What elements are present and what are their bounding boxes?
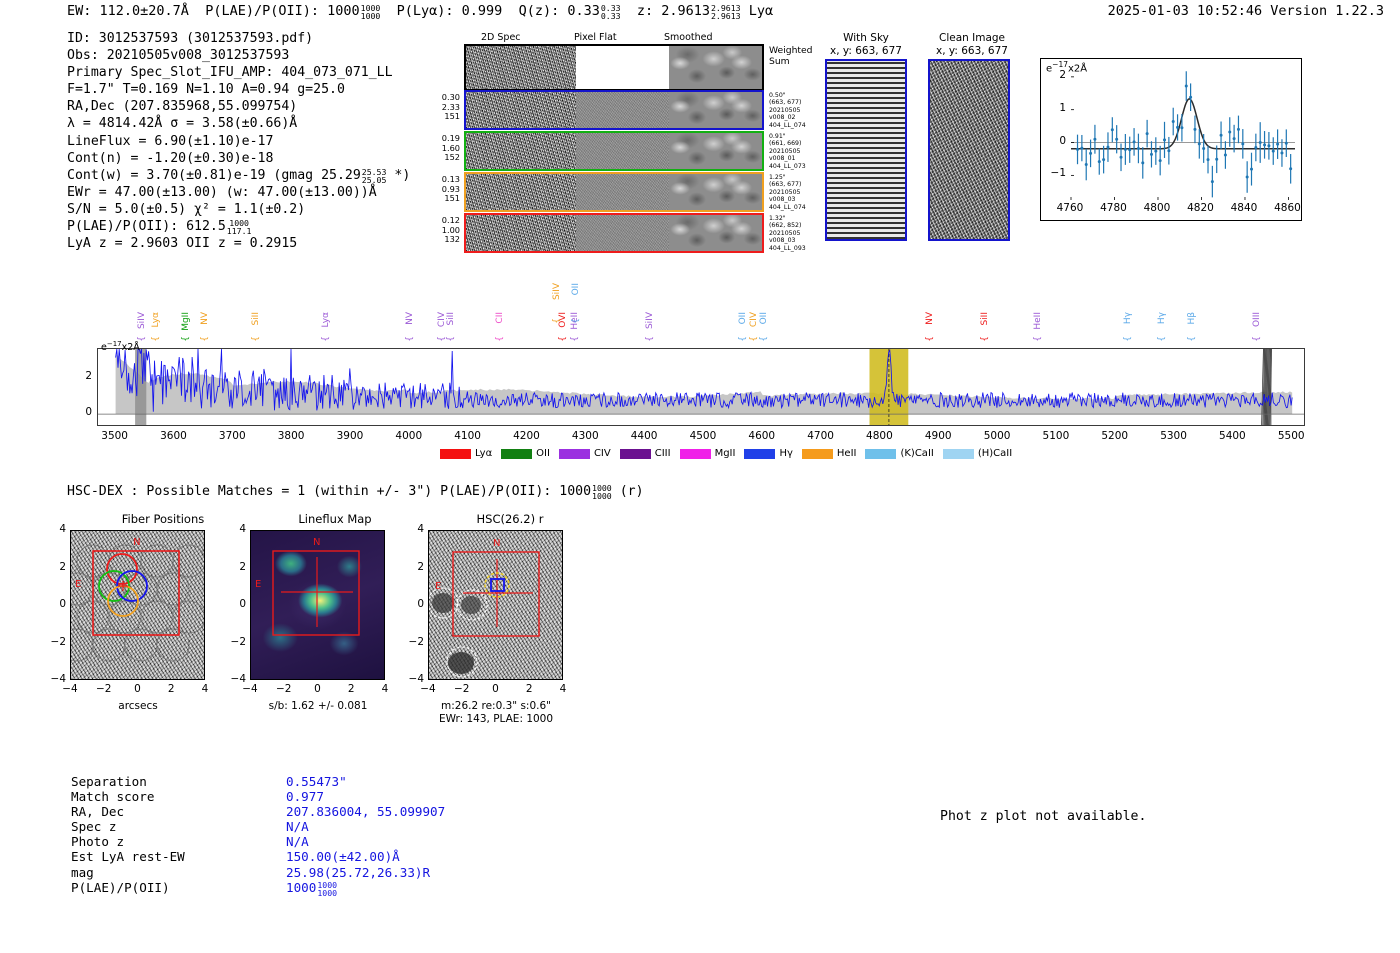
emission-line-label-H-22: Hγ: [1157, 312, 1167, 324]
emission-line-brace-18: {: [925, 336, 935, 342]
legend-item-CIV: CIV: [559, 448, 611, 459]
spectrum-xtick-4700: 4700: [799, 430, 843, 442]
spec2d-row-weighted-sum: [464, 44, 764, 91]
info-radec: RA,Dec (207.835968,55.099754): [67, 98, 410, 115]
emission-line-label-OII-17: OII: [759, 312, 769, 324]
hscr-xtick-3: 2: [514, 683, 544, 695]
legend-label-3: CIII: [655, 448, 671, 459]
legend-label-7: (K)CaII: [900, 448, 933, 459]
spectrum-xtick-4800: 4800: [857, 430, 901, 442]
cleanimage-cutout: [928, 59, 1010, 241]
spec2d-fiber-row-2: [464, 131, 764, 171]
emission-line-label-H-21: Hγ: [1123, 312, 1133, 324]
fiber-xtick-3: 2: [156, 683, 186, 695]
legend-swatch-8: [943, 449, 974, 459]
panel-title-hsc-r: HSC(26.2) r: [415, 512, 605, 526]
fiber-ytick-4: 4: [44, 523, 66, 535]
hscr-ytick-0: −4: [402, 673, 424, 685]
spectrum-units-annotation: e−17x2Å: [101, 340, 140, 353]
photoz-unavailable-message: Phot z plot not available.: [940, 809, 1146, 824]
legend-swatch-1: [501, 449, 532, 459]
legend-swatch-6: [802, 449, 833, 459]
emission-line-brace-23: {: [1187, 336, 1197, 342]
fiber-row-2-left-values: 0.191.60152: [424, 134, 460, 163]
fiber-compass-north: N: [133, 537, 140, 548]
hscr-xtick-1: −2: [447, 683, 477, 695]
legend-item-H: Hγ: [744, 448, 792, 459]
emission-line-label-NV-18: NV: [925, 312, 935, 325]
hscr-ytick-2: 0: [402, 598, 424, 610]
match-table-key-3: Spec z: [71, 819, 286, 834]
emission-line-label-OIII-24: OIII: [1252, 312, 1262, 327]
emission-line-label-CIV-16: CIV: [749, 312, 759, 327]
info-obs: Obs: 20210505v008_3012537593: [67, 47, 410, 64]
info-cont-n: Cont(n) = -1.20(±0.30)e-18: [67, 150, 410, 167]
legend-item-HCaII: (H)CaII: [943, 448, 1012, 459]
legend-swatch-2: [559, 449, 590, 459]
fiber-row-1-meta: 0.50"(663, 677)20210505v008_02404_LL_074: [769, 92, 815, 129]
spectrum-xtick-3800: 3800: [269, 430, 313, 442]
linefit-xtick-4780: 4780: [1098, 202, 1128, 214]
emission-line-label-Ly-1: Lyα: [151, 312, 161, 327]
spec2d-fiber-row-3: [464, 172, 764, 212]
header-z-frac: 2.96132.9613: [711, 4, 741, 20]
spectrum-xtick-5500: 5500: [1269, 430, 1313, 442]
emission-line-label-MgII-2: MgII: [181, 312, 191, 331]
info-cont-w: Cont(w) = 3.70(±0.81)e-19 (gmag 25.2925.…: [67, 167, 410, 184]
match-table-value-0: 0.55473": [286, 774, 347, 789]
emission-line-label-Ly-5: Lyα: [321, 312, 331, 327]
fiber-xtick-4: 4: [190, 683, 220, 695]
emission-line-label-HeII-20: HeII: [1033, 312, 1043, 330]
fiber-caption: arcsecs: [68, 700, 208, 712]
emission-line-brace-20: {: [1033, 336, 1043, 342]
spectrum-xtick-5300: 5300: [1152, 430, 1196, 442]
legend-label-2: CIV: [594, 448, 611, 459]
emission-line-label-H-23: Hβ: [1187, 312, 1197, 325]
withsky-title: With Sky: [820, 32, 912, 44]
hscr-ytick-3: 2: [402, 561, 424, 573]
hsc-r-image[interactable]: N E: [428, 530, 563, 680]
match-table-row: Est LyA rest-EW150.00(±42.00)Å: [71, 849, 445, 864]
hscr-ytick-1: −2: [402, 636, 424, 648]
match-table-value-1: 0.977: [286, 789, 324, 804]
lineflux-ytick-2: 0: [224, 598, 246, 610]
spectrum-xtick-4600: 4600: [740, 430, 784, 442]
info-seeing: F=1.7" T=0.169 N=1.10 A=0.94 g=25.0: [67, 81, 410, 98]
spec2d-fiber-row-4: [464, 213, 764, 253]
fiber-positions-image[interactable]: N E: [70, 530, 205, 680]
col-title-pixelflat: Pixel Flat: [574, 32, 617, 43]
match-table-key-4: Photo z: [71, 834, 286, 849]
emission-line-brace-2: {: [181, 336, 191, 342]
info-sn-chi2: S/N = 5.0(±0.5) χ² = 1.1(±0.2): [67, 201, 410, 218]
emission-line-brace-11: {: [570, 336, 580, 342]
fiber-overlay: [71, 531, 205, 680]
match-table-row: Spec zN/A: [71, 819, 445, 834]
lineflux-ytick-4: 4: [224, 523, 246, 535]
match-table-key-6: mag: [71, 865, 286, 880]
match-table-key-7: P(LAE)/P(OII): [71, 880, 286, 895]
hscr-xtick-2: 0: [481, 683, 511, 695]
legend-swatch-4: [680, 449, 711, 459]
fiber-ytick-2: 0: [44, 598, 66, 610]
emission-line-brace-4: {: [251, 336, 261, 342]
withsky-cutout: [825, 59, 907, 241]
weighted-sum-label-1: Weighted: [769, 46, 813, 57]
lineflux-xtick-1: −2: [269, 683, 299, 695]
spectrum-xtick-4000: 4000: [387, 430, 431, 442]
hscr-compass-north: N: [493, 538, 500, 549]
fiber-xtick-1: −2: [89, 683, 119, 695]
fiber-ytick-1: −2: [44, 636, 66, 648]
emission-line-brace-21: {: [1123, 336, 1133, 342]
spectrum-xtick-5200: 5200: [1093, 430, 1137, 442]
info-primary-spec: Primary Spec_Slot_IFU_AMP: 404_073_071_L…: [67, 64, 410, 81]
match-table-value-5: 150.00(±42.00)Å: [286, 849, 400, 864]
linefit-xtick-4820: 4820: [1185, 202, 1215, 214]
hscr-caption-1: m:26.2 re:0.3" s:0.6": [425, 700, 567, 712]
lineflux-caption: s/b: 1.62 +/- 0.081: [247, 700, 389, 712]
info-ewr: EWr = 47.00(±13.00) (w: 47.00(±13.00))Å: [67, 184, 410, 201]
fiber-ytick-0: −4: [44, 673, 66, 685]
spectrum-xtick-3600: 3600: [151, 430, 195, 442]
linefit-plot: [1040, 58, 1302, 221]
fiber-row-2-meta: 0.91"(661, 669)20210505v008_01404_LL_073: [769, 133, 815, 170]
emission-line-brace-12: {: [552, 318, 562, 324]
info-plae: P(LAE)/P(OII): 612.51000117.1: [67, 218, 410, 235]
spectrum-xtick-3700: 3700: [210, 430, 254, 442]
match-table-row: P(LAE)/P(OII)100010001000: [71, 880, 445, 895]
linefit-xtick-4760: 4760: [1055, 202, 1085, 214]
emission-line-brace-1: {: [151, 336, 161, 342]
emission-line-label-SiIV-0: SiIV: [137, 312, 147, 329]
emission-line-label-SiIV-12: SiIV: [552, 283, 562, 300]
fiber-ytick-3: 2: [44, 561, 66, 573]
legend-swatch-5: [744, 449, 775, 459]
linefit-ytick-2: 2: [1046, 69, 1066, 81]
header-plya: P(Lyα): 0.999: [397, 3, 503, 19]
header-summary-line: EW: 112.0±20.7Å P(LAE)/P(OII): 100010001…: [67, 3, 773, 19]
timestamp-version: 2025-01-03 10:52:46 Version 1.22.3: [1108, 3, 1384, 19]
spectrum-xtick-5000: 5000: [975, 430, 1019, 442]
lineflux-ytick-3: 2: [224, 561, 246, 573]
emission-line-label-SiII-8: SiII: [446, 312, 456, 326]
lineflux-ytick-1: −2: [224, 636, 246, 648]
legend-swatch-0: [440, 449, 471, 459]
emission-line-label-SiII-19: SiII: [980, 312, 990, 326]
spectrum-xtick-4200: 4200: [504, 430, 548, 442]
emission-line-label-OII-13: OII: [571, 283, 581, 295]
legend-label-4: MgII: [715, 448, 736, 459]
emission-line-label-SiIV-14: SiIV: [645, 312, 655, 329]
header-z: z: 2.9613: [637, 3, 710, 19]
emission-line-brace-3: {: [200, 336, 210, 342]
hscr-compass-east: E: [435, 581, 441, 592]
emission-line-brace-14: {: [645, 336, 655, 342]
linefit-ytick-1: 1: [1046, 102, 1066, 114]
spectrum-xtick-4500: 4500: [681, 430, 725, 442]
emission-line-label-NV-6: NV: [405, 312, 415, 325]
linefit-xtick-4860: 4860: [1272, 202, 1302, 214]
fiber-row-4-left-values: 0.121.00132: [424, 216, 460, 245]
withsky-coords: x, y: 663, 677: [820, 45, 912, 57]
emission-line-brace-9: {: [495, 336, 505, 342]
match-table: Separation0.55473"Match score0.977RA, De…: [71, 774, 445, 895]
lineflux-xtick-3: 2: [336, 683, 366, 695]
fiber-compass-east: E: [75, 579, 81, 590]
full-spectrum-plot: [97, 348, 1305, 426]
spectrum-xtick-3900: 3900: [328, 430, 372, 442]
match-table-value-4: N/A: [286, 834, 309, 849]
legend-label-1: OII: [536, 448, 550, 459]
match-table-value-7: 100010001000: [286, 880, 337, 895]
linefit-ytick--1: −1: [1046, 167, 1066, 179]
match-table-row: Photo zN/A: [71, 834, 445, 849]
emission-line-brace-8: {: [446, 336, 456, 342]
linefit-xtick-4840: 4840: [1229, 202, 1259, 214]
legend-item-KCaII: (K)CaII: [865, 448, 933, 459]
spectrum-xtick-4900: 4900: [916, 430, 960, 442]
spectrum-xtick-4100: 4100: [446, 430, 490, 442]
match-table-value-6: 25.98(25.72,26.33)R: [286, 865, 430, 880]
emission-line-label-OII-15: OII: [738, 312, 748, 324]
info-lineflux: LineFlux = 6.90(±1.10)e-17: [67, 133, 410, 150]
spectrum-xtick-4300: 4300: [563, 430, 607, 442]
hscr-xtick-4: 4: [548, 683, 578, 695]
weighted-sum-label-2: Sum: [769, 57, 790, 68]
match-table-row: Separation0.55473": [71, 774, 445, 789]
lineflux-compass-north: N: [313, 537, 320, 548]
emission-line-brace-22: {: [1157, 336, 1167, 342]
legend-label-0: Lyα: [475, 448, 492, 459]
cleanimage-title: Clean Image: [922, 32, 1022, 44]
emission-line-brace-15: {: [738, 336, 748, 342]
detection-info-block: ID: 3012537593 (3012537593.pdf) Obs: 202…: [67, 30, 410, 252]
legend-swatch-7: [865, 449, 896, 459]
spectrum-ytick-0: 0: [72, 406, 92, 418]
spectrum-ytick-2: 2: [72, 370, 92, 382]
match-table-key-1: Match score: [71, 789, 286, 804]
lineflux-ytick-0: −4: [224, 673, 246, 685]
legend-label-5: Hγ: [779, 448, 792, 459]
col-title-2dspec: 2D Spec: [481, 32, 521, 43]
fiber-xtick-2: 0: [123, 683, 153, 695]
hscr-ytick-4: 4: [402, 523, 424, 535]
emission-line-brace-13: {: [571, 318, 581, 324]
emission-line-label-NV-3: NV: [200, 312, 210, 325]
match-table-row: Match score0.977: [71, 789, 445, 804]
lineflux-compass-east: E: [255, 579, 261, 590]
match-table-row: mag25.98(25.72,26.33)R: [71, 865, 445, 880]
legend-swatch-3: [620, 449, 651, 459]
spectrum-xtick-3500: 3500: [93, 430, 137, 442]
match-table-row: RA, Dec207.836004, 55.099907: [71, 804, 445, 819]
header-plae-frac: 10001000: [361, 4, 381, 20]
legend-item-CIII: CIII: [620, 448, 671, 459]
spectrum-xtick-5400: 5400: [1210, 430, 1254, 442]
info-lambda: λ = 4814.42Å σ = 3.58(±0.66)Å: [67, 115, 410, 132]
legend-label-6: HeII: [837, 448, 857, 459]
header-qz: Q(z): 0.33: [519, 3, 600, 19]
header-qz-frac: 0.330.33: [601, 4, 621, 20]
info-redshifts: LyA z = 2.9603 OII z = 0.2915: [67, 235, 410, 252]
spectrum-legend: LyαOIICIVCIIIMgIIHγHeII(K)CaII(H)CaII: [440, 448, 1012, 459]
emission-line-brace-5: {: [321, 336, 331, 342]
header-plae-value: 1000: [327, 3, 360, 19]
match-table-value-2: 207.836004, 55.099907: [286, 804, 445, 819]
emission-line-brace-10: {: [558, 336, 568, 342]
spectrum-xtick-4400: 4400: [622, 430, 666, 442]
hscdex-summary: HSC-DEX : Possible Matches = 1 (within +…: [67, 483, 644, 499]
emission-line-brace-6: {: [405, 336, 415, 342]
lineflux-overlay: [251, 531, 385, 680]
linefit-ytick-0: 0: [1046, 135, 1066, 147]
spec2d-fiber-row-1: [464, 90, 764, 130]
emission-line-label-SiII-4: SiII: [251, 312, 261, 326]
hscr-caption-2: EWr: 143, PLAE: 1000: [425, 713, 567, 725]
cleanimage-coords: x, y: 663, 677: [922, 45, 1022, 57]
emission-line-brace-24: {: [1252, 336, 1262, 342]
fiber-row-3-left-values: 0.130.93151: [424, 175, 460, 204]
spectrum-xtick-5100: 5100: [1034, 430, 1078, 442]
match-table-key-5: Est LyA rest-EW: [71, 849, 286, 864]
emission-line-label-CII-9: CII: [495, 312, 505, 324]
match-table-key-0: Separation: [71, 774, 286, 789]
legend-item-Ly: Lyα: [440, 448, 492, 459]
header-ew: EW: 112.0±20.7Å: [67, 3, 189, 19]
legend-label-8: (H)CaII: [978, 448, 1012, 459]
match-table-key-2: RA, Dec: [71, 804, 286, 819]
emission-line-brace-17: {: [759, 336, 769, 342]
hsc-r-overlay: [429, 531, 563, 680]
legend-item-MgII: MgII: [680, 448, 736, 459]
fiber-row-3-meta: 1.25"(663, 677)20210505v008_03404_LL_074: [769, 174, 815, 211]
lineflux-xtick-4: 4: [370, 683, 400, 695]
lineflux-map-image[interactable]: N E: [250, 530, 385, 680]
fiber-row-1-left-values: 0.302.33151: [424, 93, 460, 122]
header-z-line: Lyα: [749, 3, 773, 19]
legend-item-OII: OII: [501, 448, 550, 459]
linefit-xtick-4800: 4800: [1142, 202, 1172, 214]
spec2d-panel-group: 2D Spec Pixel Flat Smoothed Weighted Sum…: [424, 32, 814, 257]
match-table-value-3: N/A: [286, 819, 309, 834]
emission-line-brace-19: {: [980, 336, 990, 342]
emission-line-brace-16: {: [749, 336, 759, 342]
legend-item-HeII: HeII: [802, 448, 857, 459]
fiber-row-4-meta: 1.32"(662, 852)20210505v008_03404_LL_093: [769, 215, 815, 252]
info-id: ID: 3012537593 (3012537593.pdf): [67, 30, 410, 47]
col-title-smoothed: Smoothed: [664, 32, 713, 43]
lineflux-xtick-2: 0: [303, 683, 333, 695]
header-plae-label: P(LAE)/P(OII):: [205, 3, 319, 19]
